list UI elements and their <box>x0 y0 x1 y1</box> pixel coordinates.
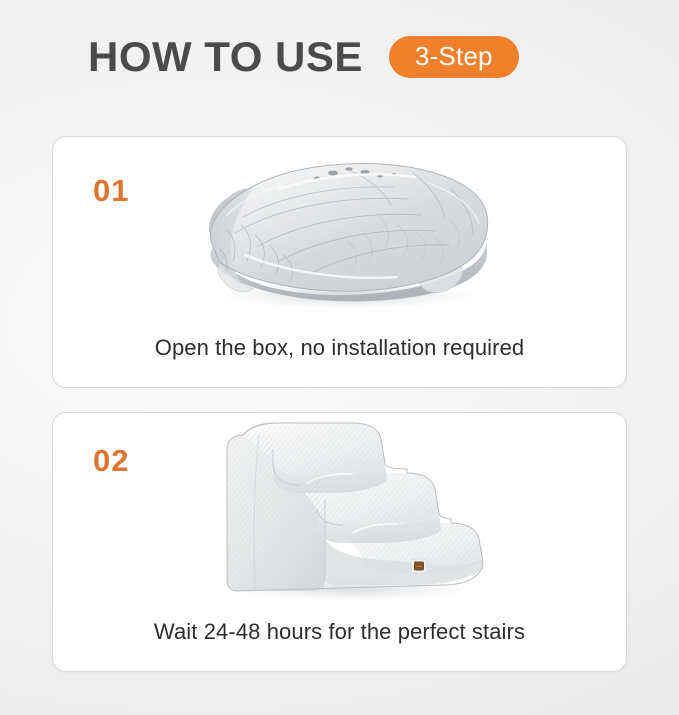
step-caption-02: Wait 24-48 hours for the perfect stairs <box>53 619 626 645</box>
pet-stairs-image <box>203 409 503 609</box>
step-number-02: 02 <box>93 445 129 476</box>
step-count-badge: 3-Step <box>389 36 519 78</box>
step-number-01: 01 <box>93 175 129 206</box>
step-card-02: 02 <box>52 412 627 672</box>
page-title: HOW TO USE <box>88 36 363 78</box>
step-card-01: 01 <box>52 136 627 388</box>
vacuum-package-image <box>183 145 503 315</box>
step-caption-01: Open the box, no installation required <box>53 335 626 361</box>
page-header: HOW TO USE 3-Step <box>88 36 519 78</box>
how-to-use-infographic: HOW TO USE 3-Step 01 <box>0 0 679 715</box>
